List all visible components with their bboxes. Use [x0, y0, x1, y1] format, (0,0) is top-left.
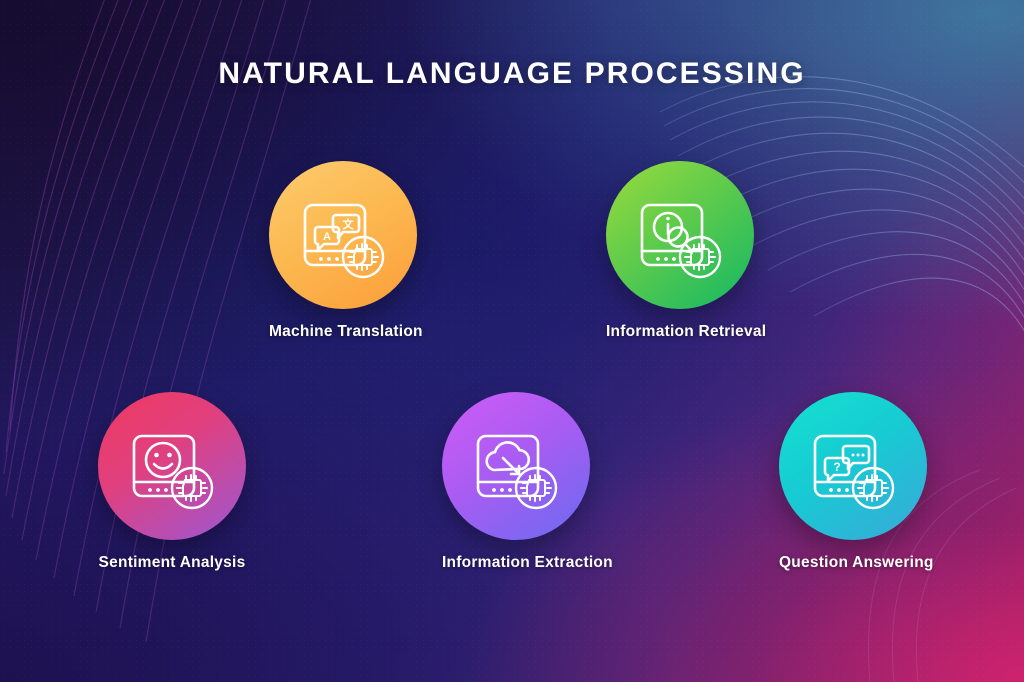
node-circle[interactable]: A 文: [269, 161, 417, 309]
information-extraction-icon: [464, 414, 568, 518]
ai-chip-badge-icon: [343, 237, 383, 277]
node-circle[interactable]: ?: [779, 392, 927, 540]
node-label: Question Answering: [779, 554, 927, 572]
node-sentiment-analysis[interactable]: Sentiment Analysis: [98, 392, 246, 540]
node-circle[interactable]: [606, 161, 754, 309]
node-machine-translation[interactable]: A 文 Machine Tran: [269, 161, 417, 309]
node-label: Information Retrieval: [606, 323, 754, 341]
information-retrieval-icon: [628, 183, 732, 287]
node-circle[interactable]: [442, 392, 590, 540]
page-title: NATURAL LANGUAGE PROCESSING: [0, 57, 1024, 91]
infographic-canvas: NATURAL LANGUAGE PROCESSING A 文: [0, 0, 1024, 682]
node-information-retrieval[interactable]: Information Retrieval: [606, 161, 754, 309]
node-information-extraction[interactable]: Information Extraction: [442, 392, 590, 540]
background-dot-texture: [0, 0, 1024, 682]
sentiment-analysis-icon: [120, 414, 224, 518]
question-answering-icon: ?: [801, 414, 905, 518]
ai-chip-badge-icon: [516, 468, 556, 508]
node-question-answering[interactable]: ?: [779, 392, 927, 540]
ai-chip-badge-icon: [853, 468, 893, 508]
node-label: Information Extraction: [442, 554, 590, 572]
ai-chip-badge-icon: [172, 468, 212, 508]
ai-chip-badge-icon: [680, 237, 720, 277]
svg-text:文: 文: [343, 217, 355, 231]
node-circle[interactable]: [98, 392, 246, 540]
svg-text:A: A: [323, 231, 331, 243]
machine-translation-icon: A 文: [291, 183, 395, 287]
svg-text:?: ?: [833, 460, 840, 474]
node-label: Sentiment Analysis: [98, 554, 246, 572]
node-label: Machine Translation: [269, 323, 417, 341]
